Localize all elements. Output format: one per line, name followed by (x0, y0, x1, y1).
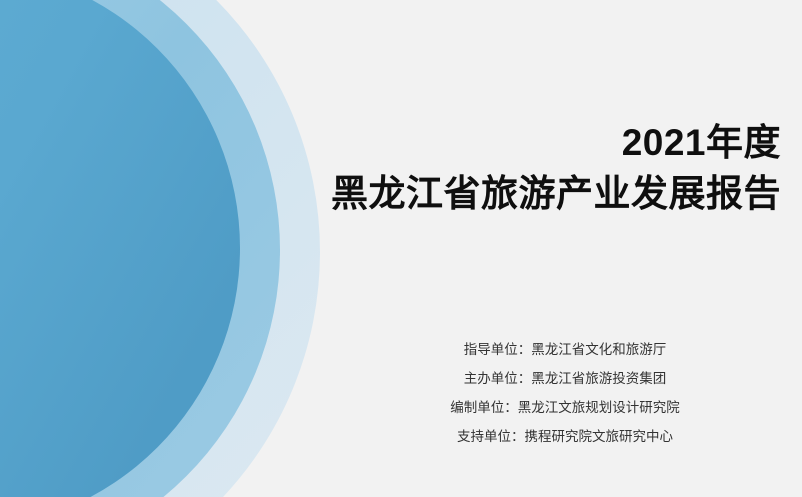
credit-row: 指导单位： 黑龙江省文化和旅游厅 (464, 338, 667, 367)
credit-label: 主办单位： (464, 367, 532, 387)
credit-label: 支持单位： (457, 425, 525, 445)
credit-label: 编制单位： (450, 396, 518, 416)
page-title: 2021年度 黑龙江省旅游产业发展报告 (331, 118, 781, 220)
credit-label: 指导单位： (464, 338, 532, 358)
arc-ring-outer (0, 0, 320, 497)
credit-row: 主办单位： 黑龙江省旅游投资集团 (464, 367, 667, 396)
credits-block: 指导单位： 黑龙江省文化和旅游厅 主办单位： 黑龙江省旅游投资集团 编制单位： … (330, 338, 800, 454)
credit-row: 编制单位： 黑龙江文旅规划设计研究院 (450, 396, 680, 425)
credit-row: 支持单位： 携程研究院文旅研究中心 (457, 425, 673, 454)
credit-value: 黑龙江省旅游投资集团 (531, 367, 666, 387)
credit-value: 携程研究院文旅研究中心 (525, 425, 674, 445)
credit-value: 黑龙江文旅规划设计研究院 (518, 396, 680, 416)
title-line-main: 黑龙江省旅游产业发展报告 (331, 168, 781, 220)
arc-ring-middle (0, 0, 280, 497)
arc-ring-inner (0, 0, 240, 497)
title-line-year: 2021年度 (331, 118, 781, 168)
report-cover-slide: 2021年度 黑龙江省旅游产业发展报告 指导单位： 黑龙江省文化和旅游厅 主办单… (0, 0, 802, 497)
credit-value: 黑龙江省文化和旅游厅 (531, 338, 666, 358)
